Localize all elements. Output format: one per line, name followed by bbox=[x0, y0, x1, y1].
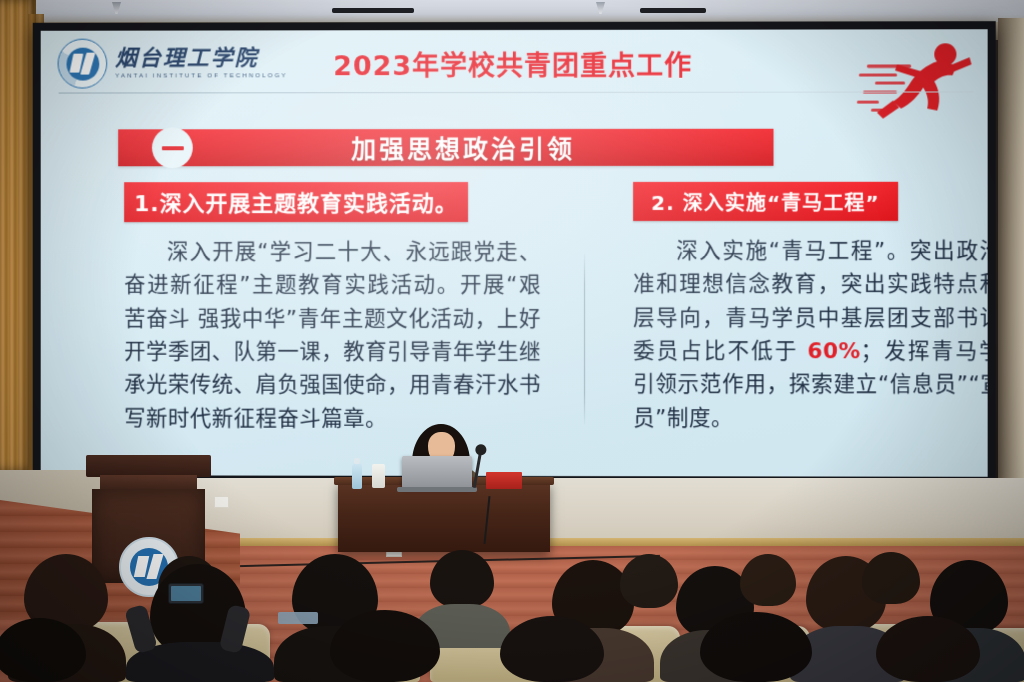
running-athlete-icon bbox=[857, 34, 978, 120]
audience-head bbox=[740, 554, 796, 606]
column-right-heading: 2. 深入实施“青马工程” bbox=[633, 182, 898, 221]
projection-screen: 烟台理工学院 YANTAI INSTITUTE OF TECHNOLOGY 20… bbox=[41, 29, 988, 477]
audience-head bbox=[700, 612, 812, 682]
header-divider bbox=[59, 91, 974, 93]
laptop-icon bbox=[402, 456, 472, 488]
wall-outlet bbox=[214, 496, 229, 508]
column-left-text: 深入开展“学习二十大、永远跟党走、奋进新征程”主题教育实践活动。开展“艰苦奋斗 … bbox=[124, 240, 541, 431]
column-left: 1.深入开展主题教育实践活动。 深入开展“学习二十大、永远跟党走、奋进新征程”主… bbox=[124, 182, 541, 436]
screenshot-root: 烟台理工学院 YANTAI INSTITUTE OF TECHNOLOGY 20… bbox=[0, 0, 1024, 682]
column-right-body: 深入实施“青马工程”。突出政治标准和理想信念教育，突出实践特点和基层导向，青马学… bbox=[633, 235, 988, 436]
red-book-icon bbox=[486, 472, 522, 489]
projection-screen-frame: 烟台理工学院 YANTAI INSTITUTE OF TECHNOLOGY 20… bbox=[33, 21, 996, 485]
column-right-highlight: 60% bbox=[807, 339, 860, 364]
section-banner: 加强思想政治引领 bbox=[118, 129, 773, 166]
column-divider bbox=[584, 254, 585, 424]
ceiling-fixture bbox=[640, 8, 706, 13]
paper-cup-icon bbox=[372, 464, 385, 488]
ceiling-downlight bbox=[596, 2, 605, 14]
slide-header: 烟台理工学院 YANTAI INSTITUTE OF TECHNOLOGY 20… bbox=[41, 29, 988, 94]
laptop-icon bbox=[278, 612, 318, 624]
water-bottle-icon bbox=[352, 463, 362, 489]
smartphone-camera-icon bbox=[168, 583, 204, 604]
section-number-badge bbox=[152, 127, 193, 168]
section-heading: 加强思想政治引领 bbox=[118, 129, 773, 165]
slide-columns: 1.深入开展主题教育实践活动。 深入开展“学习二十大、永远跟党走、奋进新征程”主… bbox=[41, 182, 988, 463]
section-number-glyph bbox=[161, 146, 183, 150]
audience-head bbox=[430, 550, 494, 608]
column-right: 2. 深入实施“青马工程” 深入实施“青马工程”。突出政治标准和理想信念教育，突… bbox=[633, 182, 988, 436]
ceiling-downlight bbox=[112, 2, 121, 14]
slide-title: 2023年学校共青团重点工作 bbox=[41, 43, 988, 83]
audience-head bbox=[620, 554, 678, 608]
column-left-body: 深入开展“学习二十大、永远跟党走、奋进新征程”主题教育实践活动。开展“艰苦奋斗 … bbox=[124, 236, 541, 436]
right-wall bbox=[998, 18, 1024, 488]
ceiling-fixture bbox=[332, 8, 414, 13]
audience-head bbox=[862, 552, 920, 604]
podium-top bbox=[86, 455, 211, 477]
column-left-heading: 1.深入开展主题教育实践活动。 bbox=[124, 182, 468, 222]
audience-area bbox=[0, 540, 1024, 682]
presentation-slide: 烟台理工学院 YANTAI INSTITUTE OF TECHNOLOGY 20… bbox=[41, 29, 988, 477]
